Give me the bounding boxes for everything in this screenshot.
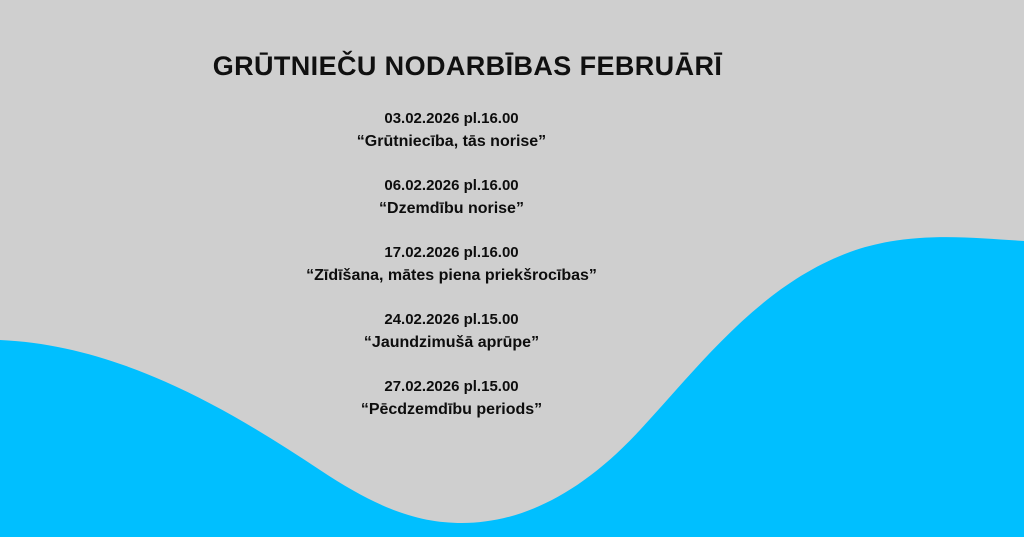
event-topic: “Jaundzimušā aprūpe” xyxy=(0,331,903,354)
event-list: 03.02.2026 pl.16.00 “Grūtniecība, tās no… xyxy=(0,108,903,421)
poster-content: GRŪTNIEČU NODARBĪBAS FEBRUĀRĪ 03.02.2026… xyxy=(0,0,1024,537)
poster-canvas: GRŪTNIEČU NODARBĪBAS FEBRUĀRĪ 03.02.2026… xyxy=(0,0,1024,537)
event-topic: “Dzemdību norise” xyxy=(0,197,903,220)
list-item: 24.02.2026 pl.15.00 “Jaundzimušā aprūpe” xyxy=(0,309,903,354)
list-item: 06.02.2026 pl.16.00 “Dzemdību norise” xyxy=(0,175,903,220)
event-date: 27.02.2026 pl.15.00 xyxy=(0,376,903,398)
list-item: 17.02.2026 pl.16.00 “Zīdīšana, mātes pie… xyxy=(0,242,903,287)
list-item: 27.02.2026 pl.15.00 “Pēcdzemdību periods… xyxy=(0,376,903,421)
event-date: 03.02.2026 pl.16.00 xyxy=(0,108,903,130)
event-topic: “Pēcdzemdību periods” xyxy=(0,398,903,421)
event-date: 24.02.2026 pl.15.00 xyxy=(0,309,903,331)
list-item: 03.02.2026 pl.16.00 “Grūtniecība, tās no… xyxy=(0,108,903,153)
event-topic: “Zīdīšana, mātes piena priekšrocības” xyxy=(0,264,903,287)
event-date: 17.02.2026 pl.16.00 xyxy=(0,242,903,264)
event-topic: “Grūtniecība, tās norise” xyxy=(0,130,903,153)
page-title: GRŪTNIEČU NODARBĪBAS FEBRUĀRĪ xyxy=(0,51,935,82)
event-date: 06.02.2026 pl.16.00 xyxy=(0,175,903,197)
